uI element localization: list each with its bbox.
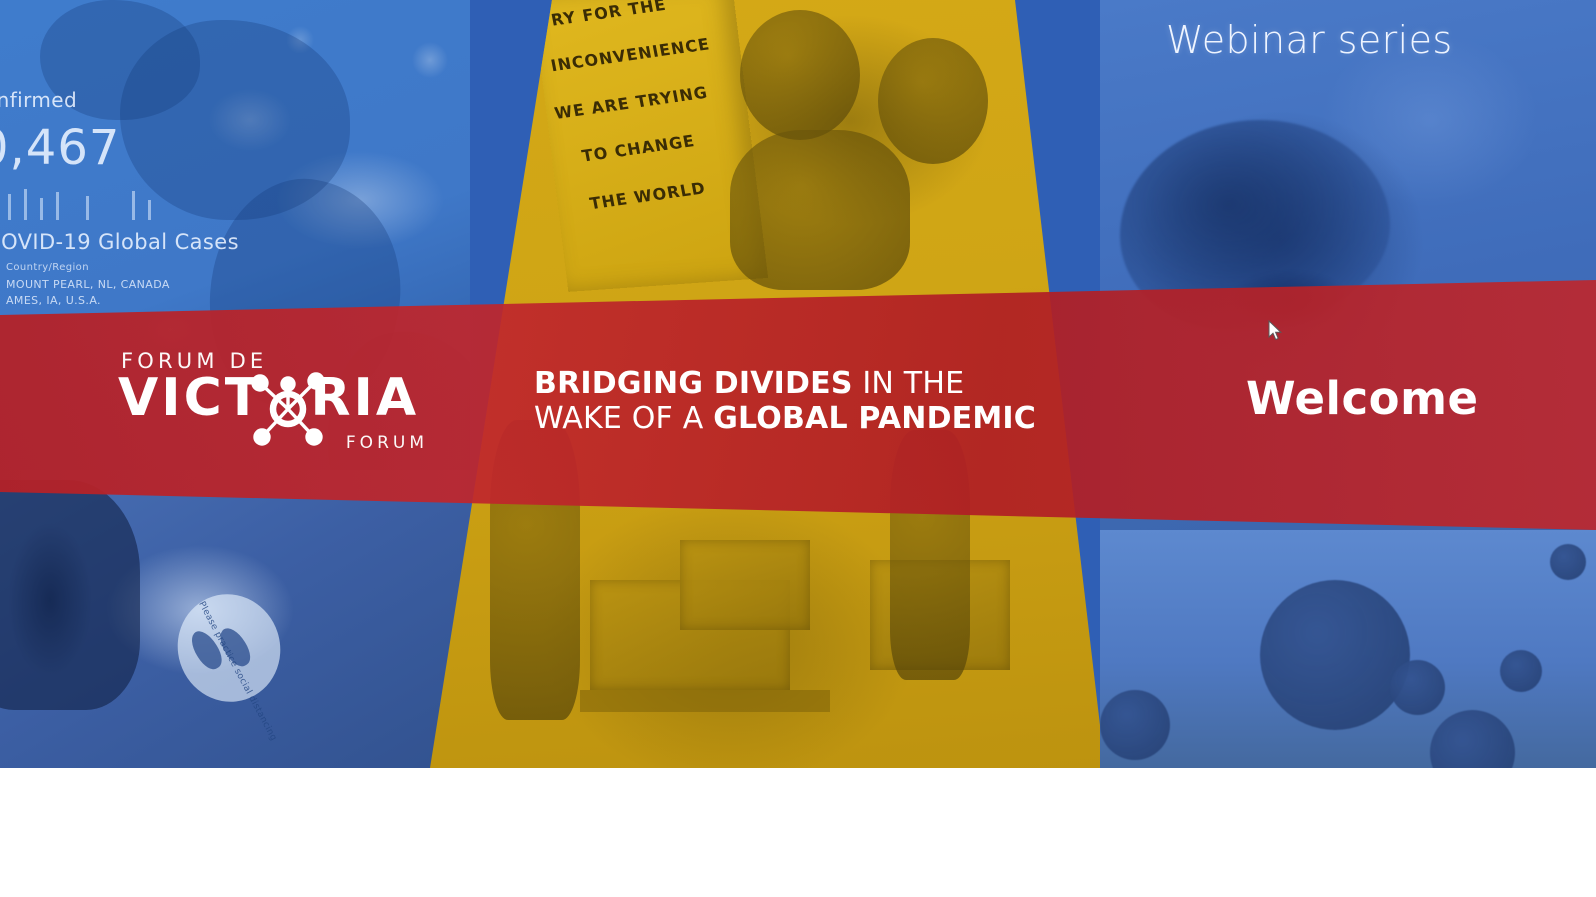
dashboard-column-header: Country/Region bbox=[6, 262, 89, 273]
protest-sign-line: WE ARE TRYING bbox=[553, 83, 710, 123]
headline-bold-1: BRIDGING DIVIDES bbox=[534, 366, 853, 401]
protest-sign-line: TO CHANGE bbox=[580, 131, 696, 166]
dashboard-bar-chart bbox=[0, 186, 182, 220]
headline-light-2: WAKE OF A bbox=[534, 401, 713, 436]
headline-bold-2: GLOBAL PANDEMIC bbox=[713, 401, 1036, 436]
mouse-cursor bbox=[1268, 320, 1284, 342]
virus-particle bbox=[1430, 710, 1515, 768]
warehouse-pallet bbox=[580, 690, 830, 712]
screen: onfirmed 0,467 COVID-19 Global Cases Cou… bbox=[0, 0, 1596, 897]
network-node-icon bbox=[246, 367, 330, 451]
victoria-forum-logo: FORUM DE VICTORIA FORUM bbox=[118, 345, 428, 450]
virus-particle bbox=[1550, 544, 1586, 580]
virus-photo-panel bbox=[1100, 530, 1596, 768]
headline-light-1: IN THE bbox=[853, 366, 965, 401]
warehouse-worker bbox=[890, 430, 970, 680]
virus-particle bbox=[1100, 690, 1170, 760]
presentation-slide[interactable]: onfirmed 0,467 COVID-19 Global Cases Cou… bbox=[0, 0, 1596, 768]
protester-figure bbox=[730, 130, 910, 290]
dashboard-title: COVID-19 Global Cases bbox=[0, 230, 239, 254]
virus-particle bbox=[1500, 650, 1542, 692]
dashboard-case-count: 0,467 bbox=[0, 120, 120, 176]
virus-particle bbox=[1260, 580, 1410, 730]
eye-shape bbox=[1230, 270, 1350, 330]
welcome-title: Welcome bbox=[1246, 372, 1478, 425]
logo-bottom-text: FORUM bbox=[346, 433, 428, 453]
warehouse-worker bbox=[490, 420, 580, 720]
protest-sign-line: RY FOR THE bbox=[549, 0, 668, 30]
protest-sign-line: INCONVENIENCE bbox=[549, 34, 711, 75]
photo-shadow bbox=[0, 480, 140, 710]
dashboard-confirmed-label: onfirmed bbox=[0, 88, 77, 112]
warehouse-box bbox=[680, 540, 810, 630]
dashboard-row: AMES, IA, U.S.A. bbox=[6, 294, 101, 307]
protester-figure bbox=[740, 10, 860, 140]
slide-headline: BRIDGING DIVIDES IN THE WAKE OF A GLOBAL… bbox=[534, 366, 1054, 436]
logo-main-before: VICT bbox=[118, 368, 263, 428]
dashboard-row: MOUNT PEARL, NL, CANADA bbox=[6, 278, 170, 291]
webinar-series-label: Webinar series bbox=[1166, 18, 1453, 62]
headline-line-2: WAKE OF A GLOBAL PANDEMIC bbox=[534, 401, 1054, 436]
caption-bar: Systemic Racism and Inequality in the Mi… bbox=[0, 768, 1596, 897]
virus-particle bbox=[1390, 660, 1445, 715]
headline-line-1: BRIDGING DIVIDES IN THE bbox=[534, 366, 1054, 401]
protest-sign-line: THE WORLD bbox=[588, 178, 707, 213]
protester-figure bbox=[878, 38, 988, 164]
